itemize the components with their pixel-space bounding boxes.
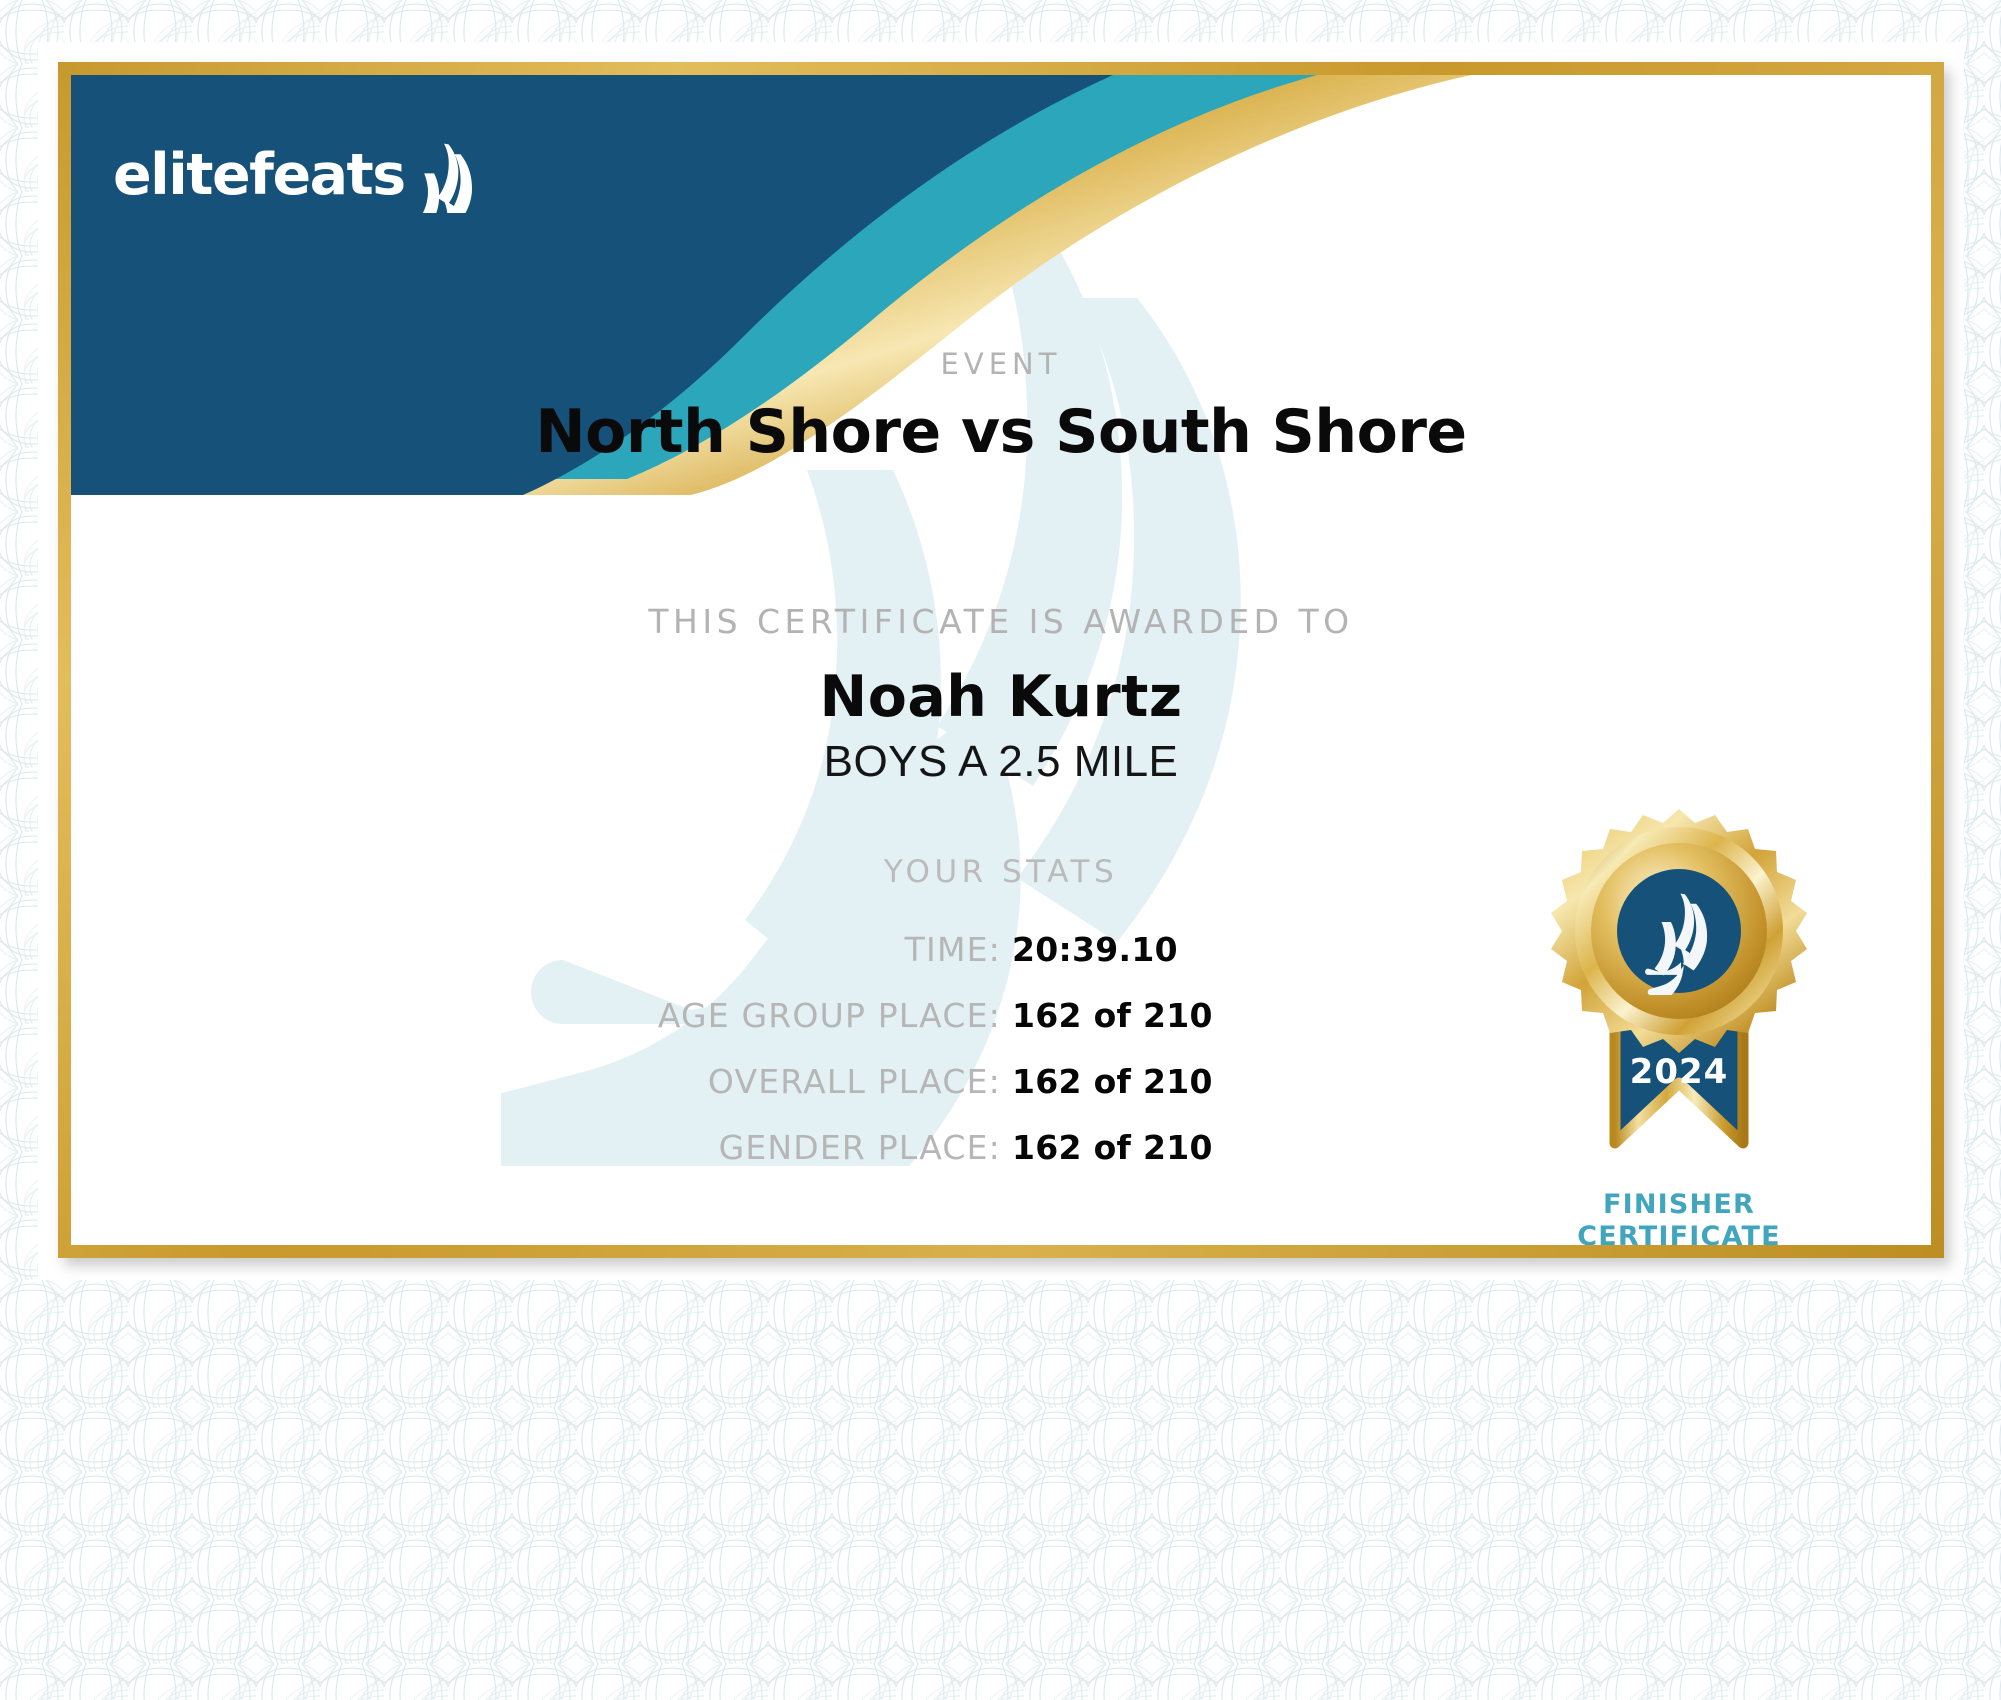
badge-caption: FINISHER CERTIFICATE [1519,1189,1839,1245]
stat-label: OVERALL PLACE: [531,1062,1001,1101]
badge-caption-line2: CERTIFICATE [1519,1221,1839,1245]
stat-value: 162 of 210 [1001,996,1471,1035]
badge-year: 2024 [1630,1052,1729,1092]
stat-value: 162 of 210 [1001,1062,1471,1101]
starburst-medal [1551,809,1807,1053]
awarded-to-label: THIS CERTIFICATE IS AWARDED TO [71,602,1931,641]
certificate-canvas: elitefeats EVENT North Shore vs South Sh… [71,75,1931,1245]
brand-name: elitefeats [113,147,405,204]
badge-caption-line1: FINISHER [1519,1189,1839,1221]
stat-value: 20:39.10 [1001,930,1471,969]
event-title: North Shore vs South Shore [71,397,1931,467]
winged-foot-icon [409,143,475,213]
division-name: BOYS A 2.5 MILE [71,737,1931,787]
stat-label: GENDER PLACE: [531,1128,1001,1167]
stat-value: 162 of 210 [1001,1128,1471,1167]
brand-logo: elitefeats [113,137,475,213]
stat-label: TIME: [531,930,1001,969]
certificate-page: elitefeats EVENT North Shore vs South Sh… [0,0,2001,1700]
event-label: EVENT [71,347,1931,381]
finisher-badge: 2024 FINISHER CERTIFICATE [1519,797,1839,1237]
medal-badge-icon: 2024 [1519,797,1839,1197]
gold-frame: elitefeats EVENT North Shore vs South Sh… [58,62,1944,1258]
recipient-name: Noah Kurtz [71,664,1931,730]
stat-label: AGE GROUP PLACE: [531,996,1001,1035]
